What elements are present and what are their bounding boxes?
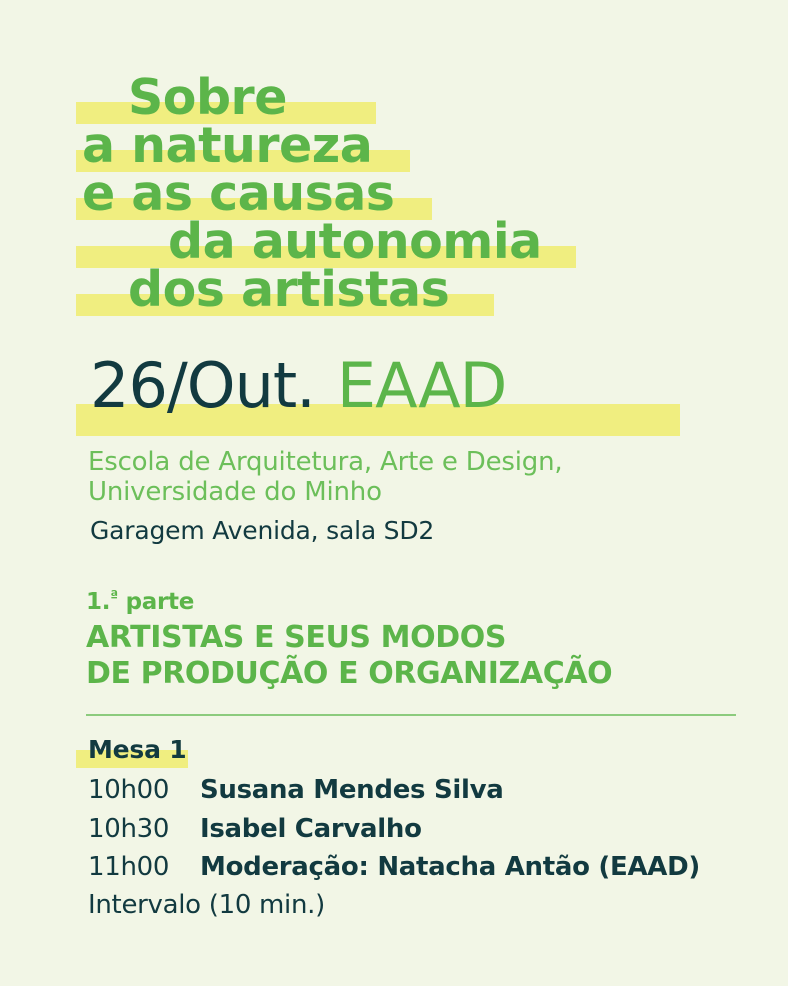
title-line-5: dos artistas bbox=[128, 265, 449, 314]
schedule-time: 10h30 bbox=[88, 814, 200, 844]
title-line-1: Sobre bbox=[128, 73, 287, 122]
section-divider bbox=[86, 714, 736, 716]
part-number: 1. bbox=[86, 589, 110, 615]
venue-room: Garagem Avenida, sala SD2 bbox=[90, 516, 434, 545]
title-line-4: da autonomia bbox=[168, 217, 542, 266]
part-title-line-1: ARTISTAS E SEUS MODOS bbox=[86, 621, 506, 654]
school-name-line-1: Escola de Arquitetura, Arte e Design, bbox=[88, 447, 562, 478]
event-date: 26/Out. bbox=[90, 349, 315, 422]
schedule-row: 10h00Susana Mendes Silva bbox=[88, 775, 504, 805]
date-and-venue-line: 26/Out.EAAD bbox=[90, 355, 506, 417]
title-line-2: a natureza bbox=[82, 121, 372, 170]
schedule-break: Intervalo (10 min.) bbox=[88, 890, 325, 920]
schedule-row: 11h00Moderação: Natacha Antão (EAAD) bbox=[88, 852, 700, 882]
schedule-row: 10h30Isabel Carvalho bbox=[88, 814, 422, 844]
schedule-speaker: Moderação: Natacha Antão (EAAD) bbox=[200, 852, 700, 882]
schedule-time: 11h00 bbox=[88, 852, 200, 882]
part-word: parte bbox=[118, 589, 194, 615]
part-label: 1.ª parte bbox=[86, 589, 194, 615]
school-name-line-2: Universidade do Minho bbox=[88, 477, 382, 508]
schedule-time: 10h00 bbox=[88, 775, 200, 805]
part-ordinal-indicator: ª bbox=[110, 588, 118, 604]
schedule-speaker: Isabel Carvalho bbox=[200, 814, 422, 844]
schedule-speaker: Susana Mendes Silva bbox=[200, 775, 504, 805]
title-line-3: e as causas bbox=[82, 169, 394, 218]
poster-canvas: Sobre a natureza e as causas da autonomi… bbox=[0, 0, 788, 986]
venue-acronym: EAAD bbox=[337, 349, 506, 422]
schedule-table-label: Mesa 1 bbox=[88, 735, 186, 764]
part-title-line-2: DE PRODUÇÃO E ORGANIZAÇÃO bbox=[86, 657, 612, 690]
